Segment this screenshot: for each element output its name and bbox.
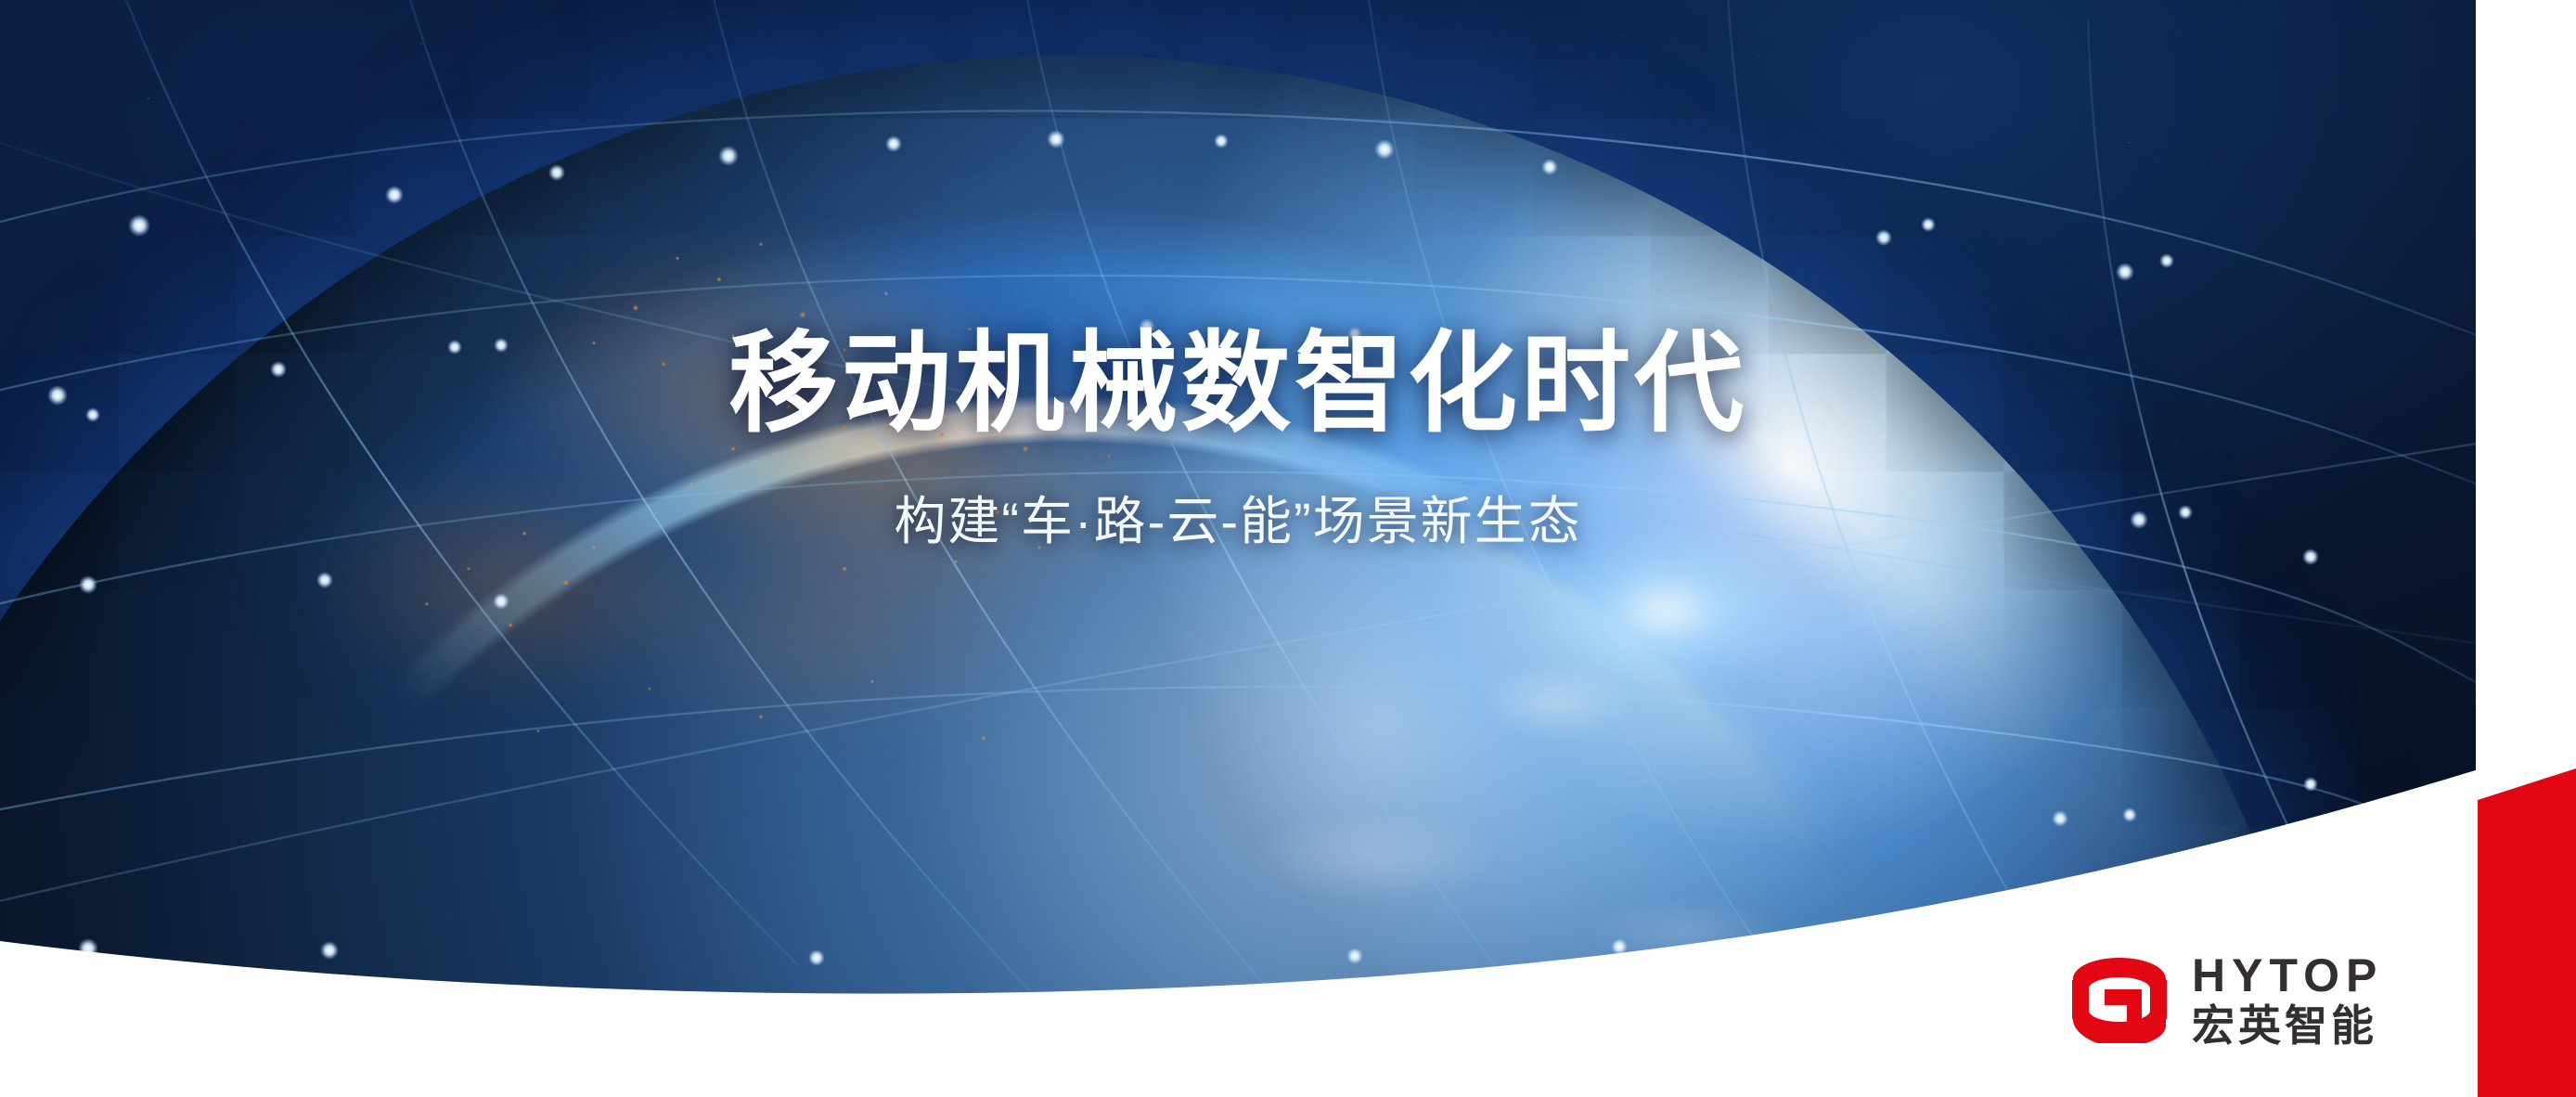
brand-name-en: HYTOP (2192, 952, 2383, 999)
slide-title: 移动机械数智化时代 (0, 327, 2476, 443)
right-edge-red-bar (2476, 0, 2576, 1097)
brand-logo-text: HYTOP 宏英智能 (2192, 952, 2383, 1047)
presentation-slide: 移动机械数智化时代 构建“车·路-云-能”场景新生态 HYTOP 宏英智能 (0, 0, 2576, 1097)
brand-name-cn: 宏英智能 (2192, 1004, 2383, 1047)
hytop-logo-mark-icon (2071, 956, 2168, 1043)
brand-logo: HYTOP 宏英智能 (2071, 952, 2383, 1047)
headline-block: 移动机械数智化时代 构建“车·路-云-能”场景新生态 (0, 327, 2476, 550)
slide-subtitle: 构建“车·路-云-能”场景新生态 (0, 493, 2476, 550)
